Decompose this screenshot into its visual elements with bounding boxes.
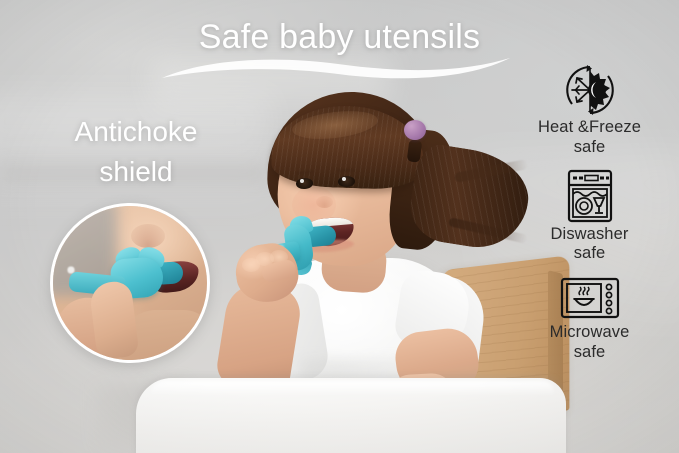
inset-nose bbox=[131, 224, 165, 248]
dishwasher-icon bbox=[500, 167, 679, 225]
page-title: Safe baby utensils bbox=[0, 18, 679, 57]
antichoke-callout: Antichoke shield bbox=[36, 112, 236, 192]
feature-list: Heat &Freeze safe bbox=[500, 62, 679, 372]
antichoke-line-1: Antichoke bbox=[36, 112, 236, 152]
feature-label: Heat &Freeze safe bbox=[500, 118, 679, 158]
feature-label: Diswasher safe bbox=[500, 225, 679, 265]
feature-microwave: Microwave safe bbox=[500, 273, 679, 363]
feature-dishwasher: Diswasher safe bbox=[500, 167, 679, 265]
heat-freeze-icon bbox=[500, 62, 679, 118]
antichoke-line-2: shield bbox=[36, 152, 236, 192]
product-feature-poster: Safe baby utensils Antichoke shield bbox=[0, 0, 679, 453]
antichoke-inset-photo bbox=[50, 203, 210, 363]
feature-heat-freeze: Heat &Freeze safe bbox=[500, 62, 679, 158]
feature-label: Microwave safe bbox=[500, 323, 679, 363]
microwave-icon bbox=[500, 273, 679, 323]
